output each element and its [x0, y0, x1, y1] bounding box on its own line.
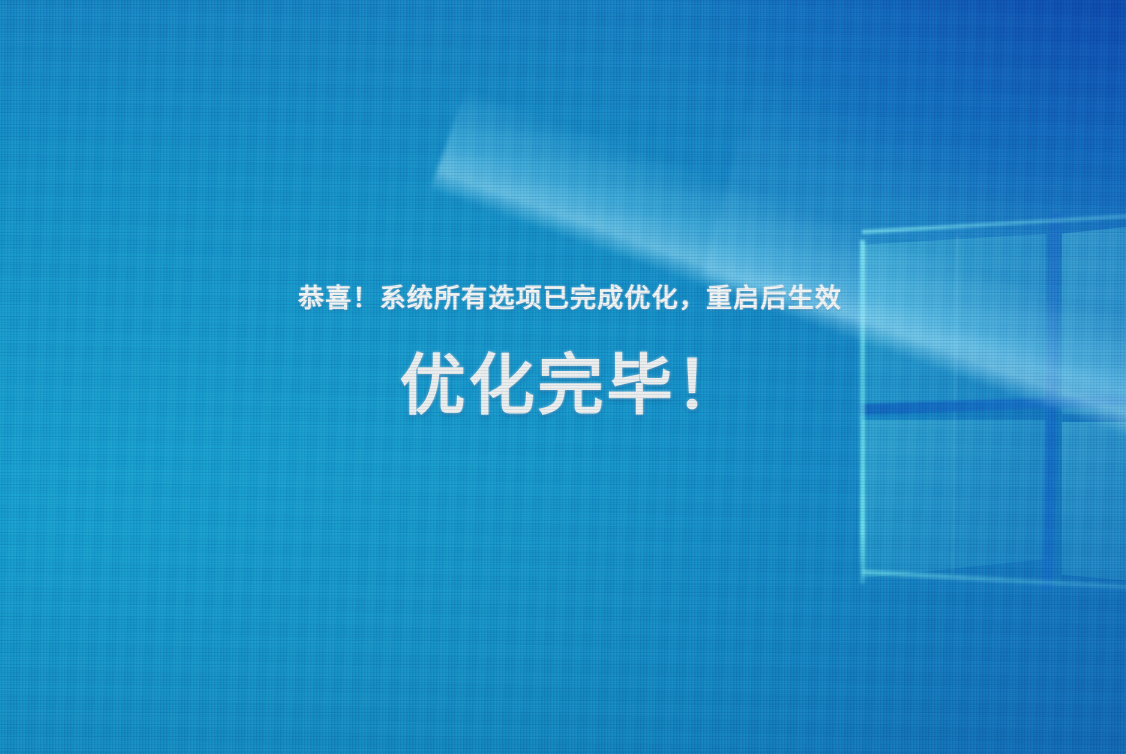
- wallpaper-lower-shading: [0, 0, 1126, 754]
- desktop-screen: 恭喜！系统所有选项已完成优化，重启后生效 优化完毕！: [0, 0, 1126, 754]
